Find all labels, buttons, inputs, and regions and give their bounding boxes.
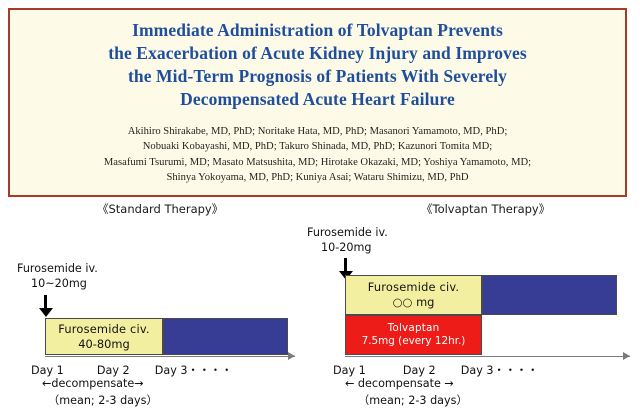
- tolvaptan-dose-bar: Tolvaptan 7.5mg (every 12hr.): [345, 315, 482, 355]
- title-card: Immediate Administration of Tolvaptan Pr…: [8, 8, 627, 197]
- tolvaptan-timeline-axis-arrow-icon: [345, 352, 630, 361]
- standard-day-labels: Day 1 Day 2 Day 3・・・・: [31, 362, 232, 378]
- tolvaptan-decompensate-label: ← decompensate →: [345, 377, 454, 390]
- standard-civ-line-2: 40-80mg: [78, 337, 129, 352]
- tolvaptan-day-3: Day 3・・・・: [461, 362, 539, 378]
- tolvaptan-furosemide-iv-label: Furosemide iv. 10-20mg: [307, 226, 388, 255]
- standard-day-1: Day 1: [31, 364, 64, 377]
- tolvaptan-furosemide-civ-bar: Furosemide civ. ○○ mg: [345, 275, 482, 315]
- author-line-4: Shinya Yokoyama, MD, PhD; Kuniya Asai; W…: [10, 170, 625, 185]
- standard-decompensate-label: ←decompensate→: [42, 377, 144, 390]
- tolvaptan-followup-bar: [482, 275, 617, 315]
- tolvaptan-dose-line-2: 7.5mg (every 12hr.): [362, 335, 466, 348]
- standard-therapy-heading: 《Standard Therapy》: [97, 201, 223, 217]
- standard-furosemide-iv-label: Furosemide iv. 10~20mg: [17, 262, 98, 291]
- standard-timeline-axis-arrow-icon: [45, 352, 295, 361]
- tolvaptan-day-2: Day 2: [403, 364, 436, 377]
- author-line-1: Akihiro Shirakabe, MD, PhD; Noritake Hat…: [10, 124, 625, 139]
- author-list: Akihiro Shirakabe, MD, PhD; Noritake Hat…: [10, 124, 625, 186]
- standard-furosemide-civ-bar: Furosemide civ. 40-80mg: [45, 318, 163, 355]
- standard-iv-line-1: Furosemide iv.: [17, 262, 98, 275]
- title-line-2: the Exacerbation of Acute Kidney Injury …: [10, 42, 625, 65]
- tolvaptan-day-labels: Day 1 Day 2 Day 3・・・・: [333, 362, 538, 378]
- tolvaptan-civ-line-2: ○○ mg: [393, 295, 435, 310]
- standard-mean-duration-label: （mean; 2-3 days）: [48, 392, 158, 408]
- standard-day-3: Day 3・・・・: [155, 362, 233, 378]
- tolvaptan-day-1: Day 1: [333, 364, 366, 377]
- tolvaptan-iv-line-2: 10-20mg: [307, 241, 388, 256]
- author-line-3: Masafumi Tsurumi, MD; Masato Matsushita,…: [10, 155, 625, 170]
- page-title: Immediate Administration of Tolvaptan Pr…: [10, 19, 625, 111]
- title-line-1: Immediate Administration of Tolvaptan Pr…: [10, 19, 625, 42]
- standard-iv-line-2: 10~20mg: [17, 277, 98, 292]
- tolvaptan-mean-duration-label: （mean; 2-3 days）: [358, 392, 468, 408]
- tolvaptan-civ-line-1: Furosemide civ.: [368, 280, 460, 295]
- title-line-3: the Mid-Term Prognosis of Patients With …: [10, 65, 625, 88]
- author-line-2: Nobuaki Kobayashi, MD, PhD; Takuro Shina…: [10, 139, 625, 154]
- standard-followup-bar: [163, 318, 288, 355]
- tolvaptan-iv-line-1: Furosemide iv.: [307, 226, 388, 239]
- tolvaptan-dose-line-1: Tolvaptan: [388, 322, 440, 335]
- standard-civ-line-1: Furosemide civ.: [58, 322, 150, 337]
- standard-day-2: Day 2: [97, 364, 130, 377]
- title-line-4: Decompensated Acute Heart Failure: [10, 88, 625, 111]
- tolvaptan-therapy-heading: 《Tolvaptan Therapy》: [421, 201, 550, 217]
